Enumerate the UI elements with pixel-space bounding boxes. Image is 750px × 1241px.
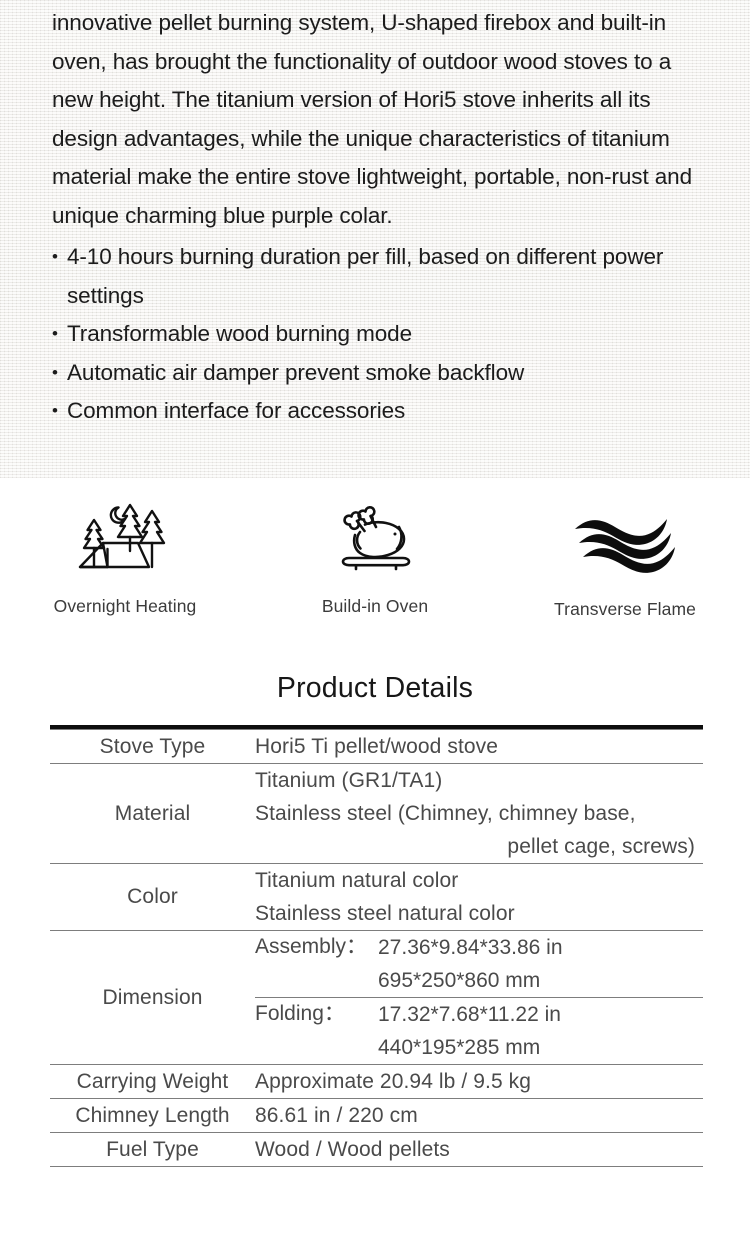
feature-bullet-list: 4-10 hours burning duration per fill, ba…: [52, 238, 712, 431]
table-row: Fuel Type Wood / Wood pellets: [50, 1133, 703, 1167]
row-key: Dimension: [50, 931, 255, 1065]
bullet-item: 4-10 hours burning duration per fill, ba…: [52, 238, 712, 315]
value-line: 17.32*7.68*11.22 in: [378, 998, 703, 1031]
bullet-text-4: Common interface for accessories: [67, 398, 405, 423]
description-band: innovative pellet burning system, U-shap…: [0, 0, 750, 478]
feature-overnight-heating: Overnight Heating: [0, 478, 250, 663]
row-value: Titanium (GR1/TA1) Stainless steel (Chim…: [255, 764, 703, 864]
table-row: Material Titanium (GR1/TA1) Stainless st…: [50, 764, 703, 864]
tent-night-icon: [73, 496, 177, 586]
feature-transverse-flame: Transverse Flame: [500, 478, 750, 663]
page-title: Product Details: [0, 672, 750, 705]
dimension-subrow: Folding： 17.32*7.68*11.22 in 440*195*285…: [255, 998, 703, 1065]
value-line: Hori5 Ti pellet/wood stove: [255, 730, 703, 763]
description-content: innovative pellet burning system, U-shap…: [52, 4, 712, 431]
feature-build-in-oven: Build-in Oven: [250, 478, 500, 663]
feature-icon-row: Overnight Heating: [0, 478, 750, 663]
row-key: Carrying Weight: [50, 1065, 255, 1099]
bullet-text-1: 4-10 hours burning duration per fill, ba…: [67, 244, 663, 308]
value-line: 695*250*860 mm: [378, 964, 703, 997]
table-row: Chimney Length 86.61 in / 220 cm: [50, 1099, 703, 1133]
value-line: 86.61 in / 220 cm: [255, 1099, 703, 1132]
row-value: Assembly： 27.36*9.84*33.86 in 695*250*86…: [255, 931, 703, 1065]
table-row: Carrying Weight Approximate 20.94 lb / 9…: [50, 1065, 703, 1099]
value-line: Wood / Wood pellets: [255, 1133, 703, 1166]
value-line: Stainless steel (Chimney, chimney base,: [255, 797, 703, 830]
value-line: Stainless steel natural color: [255, 897, 703, 930]
dimension-subrow: Assembly： 27.36*9.84*33.86 in 695*250*86…: [255, 931, 703, 998]
bullet-item: Common interface for accessories: [52, 392, 712, 431]
dimension-sublabel: Assembly：: [255, 931, 378, 998]
dimension-subtable: Assembly： 27.36*9.84*33.86 in 695*250*86…: [255, 931, 703, 1064]
spec-table: Stove Type Hori5 Ti pellet/wood stove Ma…: [50, 725, 703, 1167]
table-row: Color Titanium natural color Stainless s…: [50, 864, 703, 931]
value-line: Titanium (GR1/TA1): [255, 764, 703, 797]
table-row: Dimension Assembly： 27.36*9.84*33.86 in …: [50, 931, 703, 1065]
value-line: Approximate 20.94 lb / 9.5 kg: [255, 1065, 703, 1098]
value-line: Titanium natural color: [255, 864, 703, 897]
value-line: 440*195*285 mm: [378, 1031, 703, 1064]
bullet-item: Transformable wood burning mode: [52, 315, 712, 354]
bullet-text-2: Transformable wood burning mode: [67, 321, 412, 346]
dimension-sublabel: Folding：: [255, 998, 378, 1065]
value-line: pellet cage, screws): [255, 830, 703, 863]
roast-turkey-icon: [327, 496, 423, 586]
table-row: Stove Type Hori5 Ti pellet/wood stove: [50, 730, 703, 764]
row-value: Titanium natural color Stainless steel n…: [255, 864, 703, 931]
dimension-subvalues: 27.36*9.84*33.86 in 695*250*860 mm: [378, 931, 703, 998]
bullet-item: Automatic air damper prevent smoke backf…: [52, 354, 712, 393]
row-value: Wood / Wood pellets: [255, 1133, 703, 1167]
product-detail-page: innovative pellet burning system, U-shap…: [0, 0, 750, 1241]
row-value: Hori5 Ti pellet/wood stove: [255, 730, 703, 764]
row-value: Approximate 20.94 lb / 9.5 kg: [255, 1065, 703, 1099]
feature-label: Overnight Heating: [54, 596, 197, 617]
feature-label: Transverse Flame: [554, 599, 696, 620]
feature-label: Build-in Oven: [322, 596, 428, 617]
spec-table-wrapper: Stove Type Hori5 Ti pellet/wood stove Ma…: [50, 725, 703, 1167]
bullet-text-3: Automatic air damper prevent smoke backf…: [67, 360, 524, 385]
row-key: Stove Type: [50, 730, 255, 764]
row-key: Fuel Type: [50, 1133, 255, 1167]
value-line: 27.36*9.84*33.86 in: [378, 931, 703, 964]
flame-waves-icon: [571, 496, 679, 586]
row-key: Chimney Length: [50, 1099, 255, 1133]
row-key: Color: [50, 864, 255, 931]
dimension-subvalues: 17.32*7.68*11.22 in 440*195*285 mm: [378, 998, 703, 1065]
description-paragraph: innovative pellet burning system, U-shap…: [52, 4, 712, 235]
row-key: Material: [50, 764, 255, 864]
row-value: 86.61 in / 220 cm: [255, 1099, 703, 1133]
